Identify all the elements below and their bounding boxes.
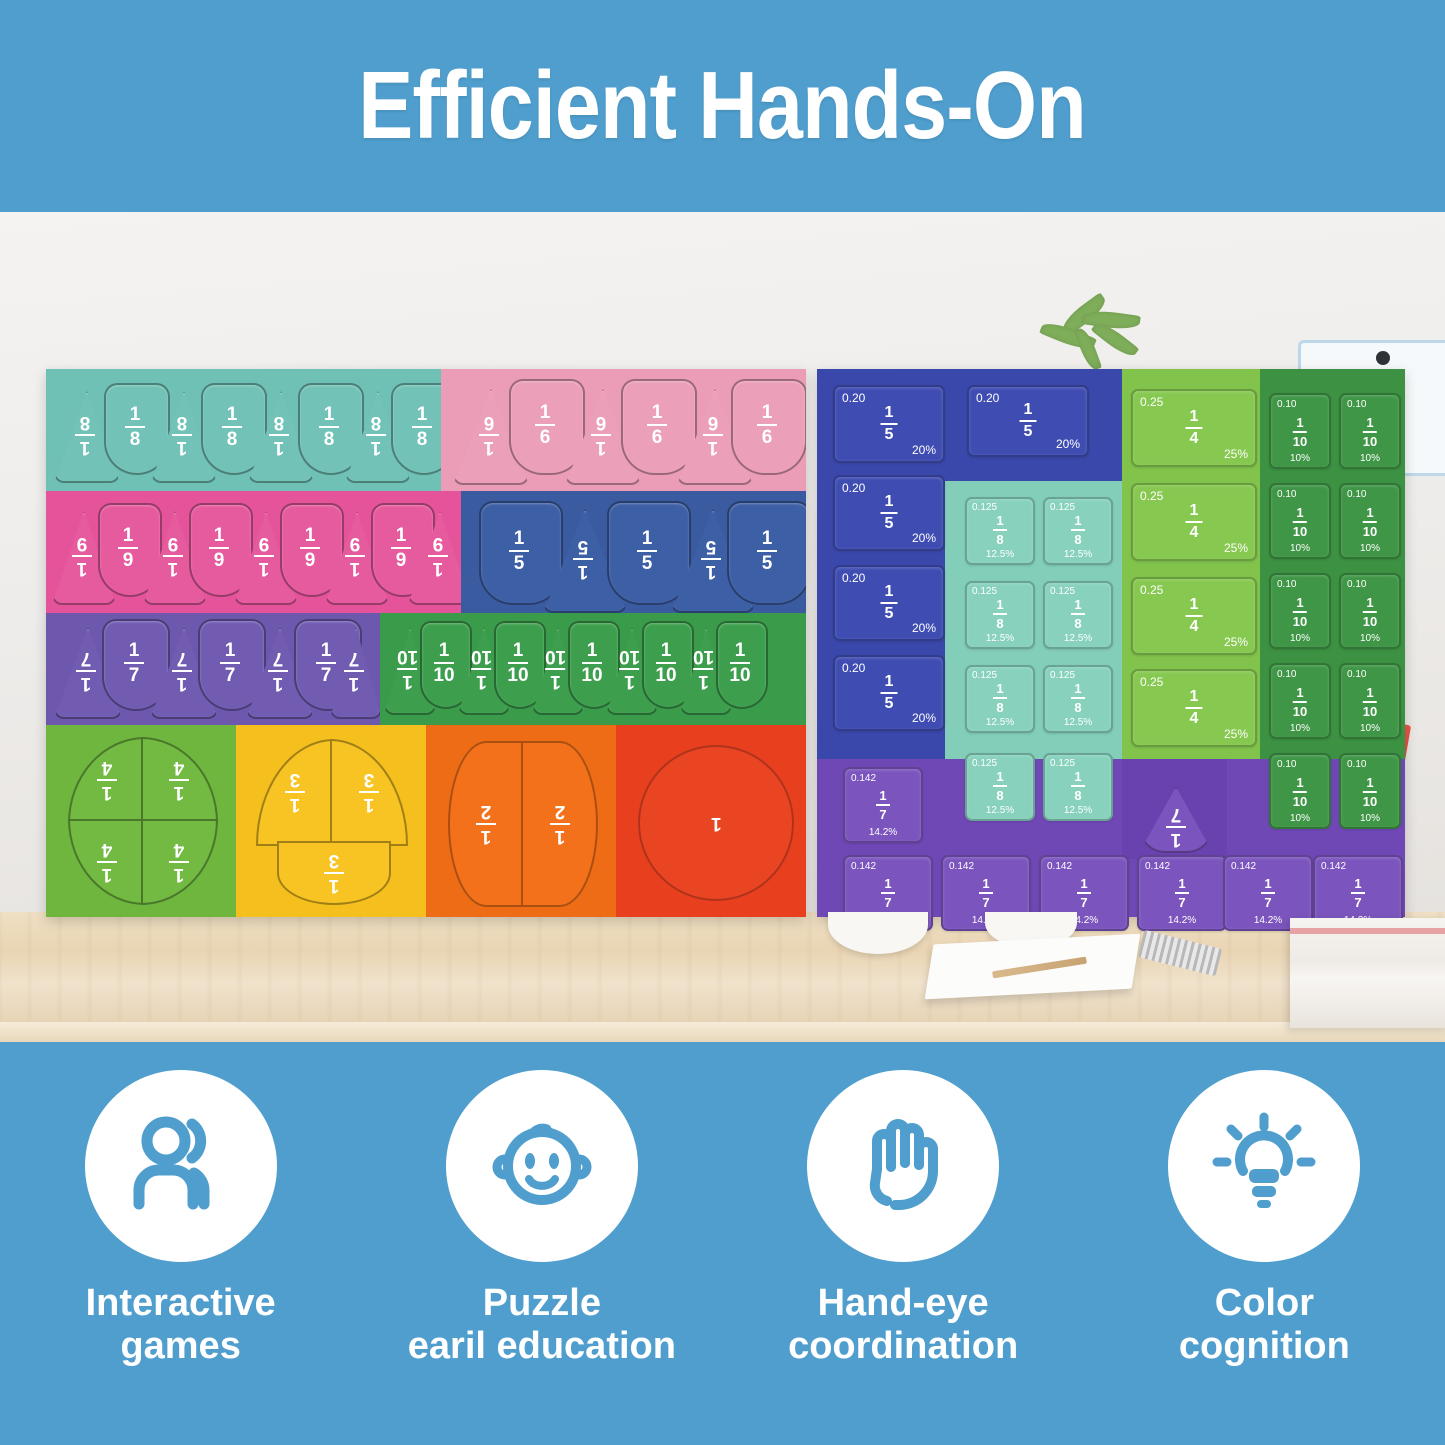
section-sevenths[interactable]: 17 17 17 17 17 17 17 bbox=[46, 613, 380, 725]
feature-label-line2: earil education bbox=[408, 1325, 676, 1367]
tile-eighth[interactable]: 0.12518 12.5% bbox=[1043, 753, 1113, 821]
decimal-percent-board[interactable]: 0.20 15 20% 0.201520% 0.201520% 0.201520… bbox=[817, 369, 1405, 917]
product-infographic: Efficient Hands-On 18 18 bbox=[0, 0, 1445, 1445]
tile-quarter[interactable]: 0.251425% bbox=[1131, 669, 1257, 747]
tile-tenth[interactable]: 0.1011010% bbox=[1339, 483, 1401, 559]
tile-fifth[interactable]: 0.201520% bbox=[967, 385, 1089, 457]
header-banner: Efficient Hands-On bbox=[0, 0, 1445, 212]
tile-tenth[interactable]: 0.1011010% bbox=[1339, 663, 1401, 739]
section-whole[interactable]: 1 bbox=[616, 725, 806, 917]
section-eighths[interactable]: 18 18 18 18 18 18 18 18 bbox=[46, 369, 441, 491]
feature-label-line1: Puzzle bbox=[483, 1282, 601, 1324]
tile-tenth[interactable]: 0.1011010% bbox=[1339, 753, 1401, 829]
hand-icon bbox=[844, 1107, 962, 1225]
tile-seventh[interactable]: 0.1421714.2% bbox=[1137, 855, 1227, 931]
feature-icon-circle bbox=[807, 1070, 999, 1262]
tile-eighth[interactable]: 0.12518 12.5% bbox=[965, 665, 1035, 733]
feature-label-line2: games bbox=[120, 1325, 240, 1367]
feature-label-line2: cognition bbox=[1179, 1325, 1350, 1367]
baby-face-icon bbox=[483, 1107, 601, 1225]
feature-label: Hand-eye coordination bbox=[788, 1282, 1018, 1367]
section-thirds[interactable]: 13 13 13 bbox=[236, 725, 426, 917]
feature-label-line1: Interactive bbox=[86, 1282, 276, 1324]
tile-tenth[interactable]: 0.1011010% bbox=[1269, 573, 1331, 649]
feature-icon-circle bbox=[446, 1070, 638, 1262]
wall-magnet-dot bbox=[1376, 351, 1390, 365]
tile-seventh[interactable]: 0.1421714.2% bbox=[843, 767, 923, 843]
section-halves[interactable]: 12 12 bbox=[426, 725, 616, 917]
tile-quarter[interactable]: 0.251425% bbox=[1131, 483, 1257, 561]
tile-quarter[interactable]: 0.251425% bbox=[1131, 577, 1257, 655]
feature-interactive-games[interactable]: Interactive games bbox=[16, 1070, 346, 1367]
section-sixths[interactable]: 16 16 16 16 16 16 bbox=[441, 369, 806, 491]
tile-fifth[interactable]: 0.201520% bbox=[833, 655, 945, 731]
feature-puzzle-education[interactable]: Puzzle earil education bbox=[377, 1070, 707, 1367]
feature-label-line2: coordination bbox=[788, 1325, 1018, 1367]
feature-label-line1: Color bbox=[1215, 1282, 1314, 1324]
feature-color-cognition[interactable]: Color cognition bbox=[1099, 1070, 1429, 1367]
feature-list: Interactive games bbox=[0, 1070, 1445, 1367]
feature-icon-circle bbox=[85, 1070, 277, 1262]
section-ninths[interactable]: 19 19 19 19 19 19 19 19 19 bbox=[46, 491, 461, 613]
feature-icon-circle bbox=[1168, 1070, 1360, 1262]
features-footer: Interactive games bbox=[0, 1042, 1445, 1445]
tile-eighth[interactable]: 0.12518 12.5% bbox=[965, 753, 1035, 821]
feature-label: Color cognition bbox=[1179, 1282, 1350, 1367]
lightbulb-icon bbox=[1205, 1107, 1323, 1225]
tile-tenth[interactable]: 0.1011010% bbox=[1269, 483, 1331, 559]
piece-label: 18 bbox=[75, 413, 95, 457]
page-title: Efficient Hands-On bbox=[359, 51, 1087, 161]
feature-hand-eye-coordination[interactable]: Hand-eye coordination bbox=[738, 1070, 1068, 1367]
tile-eighth[interactable]: 0.12518 12.5% bbox=[1043, 581, 1113, 649]
section-fifths[interactable]: 15 15 15 15 15 bbox=[461, 491, 806, 613]
tile-tenth[interactable]: 0.1011010% bbox=[1269, 663, 1331, 739]
two-people-icon bbox=[122, 1107, 240, 1225]
tile-eighth[interactable]: 0.12518 12.5% bbox=[1043, 497, 1113, 565]
section-quarters[interactable]: 14 14 14 14 bbox=[46, 725, 236, 917]
tile-fifth[interactable]: 0.201520% bbox=[833, 475, 945, 551]
tile-quarter[interactable]: 0.251425% bbox=[1131, 389, 1257, 467]
tile-tenth[interactable]: 0.1011010% bbox=[1339, 573, 1401, 649]
tile-decimal: 0.20 bbox=[842, 391, 865, 405]
tile-eighth[interactable]: 0.12518 12.5% bbox=[1043, 665, 1113, 733]
tile-fifth[interactable]: 0.20 15 20% bbox=[833, 385, 945, 463]
tile-eighth[interactable]: 0.12518 12.5% bbox=[965, 581, 1035, 649]
tile-tenth[interactable]: 0.1011010% bbox=[1339, 393, 1401, 469]
tile-percent: 20% bbox=[912, 443, 936, 457]
product-photo-scene: 18 18 18 18 18 18 18 18 16 bbox=[0, 212, 1445, 1042]
tile-tenth[interactable]: 0.1011010% bbox=[1269, 753, 1331, 829]
feature-label: Interactive games bbox=[86, 1282, 276, 1367]
tile-tenth[interactable]: 0.1011010% bbox=[1269, 393, 1331, 469]
desk-front-edge bbox=[0, 1022, 1445, 1042]
tile-eighth[interactable]: 0.12518 12.5% bbox=[965, 497, 1035, 565]
tile-fifth[interactable]: 0.201520% bbox=[833, 565, 945, 641]
section-tenths[interactable]: 110 110 110 110 110 110 110 110 110 bbox=[380, 613, 806, 725]
feature-label: Puzzle earil education bbox=[408, 1282, 676, 1367]
feature-label-line1: Hand-eye bbox=[818, 1282, 989, 1324]
book-stack bbox=[1290, 918, 1445, 1028]
fraction-circles-board[interactable]: 18 18 18 18 18 18 18 18 16 bbox=[46, 369, 806, 917]
